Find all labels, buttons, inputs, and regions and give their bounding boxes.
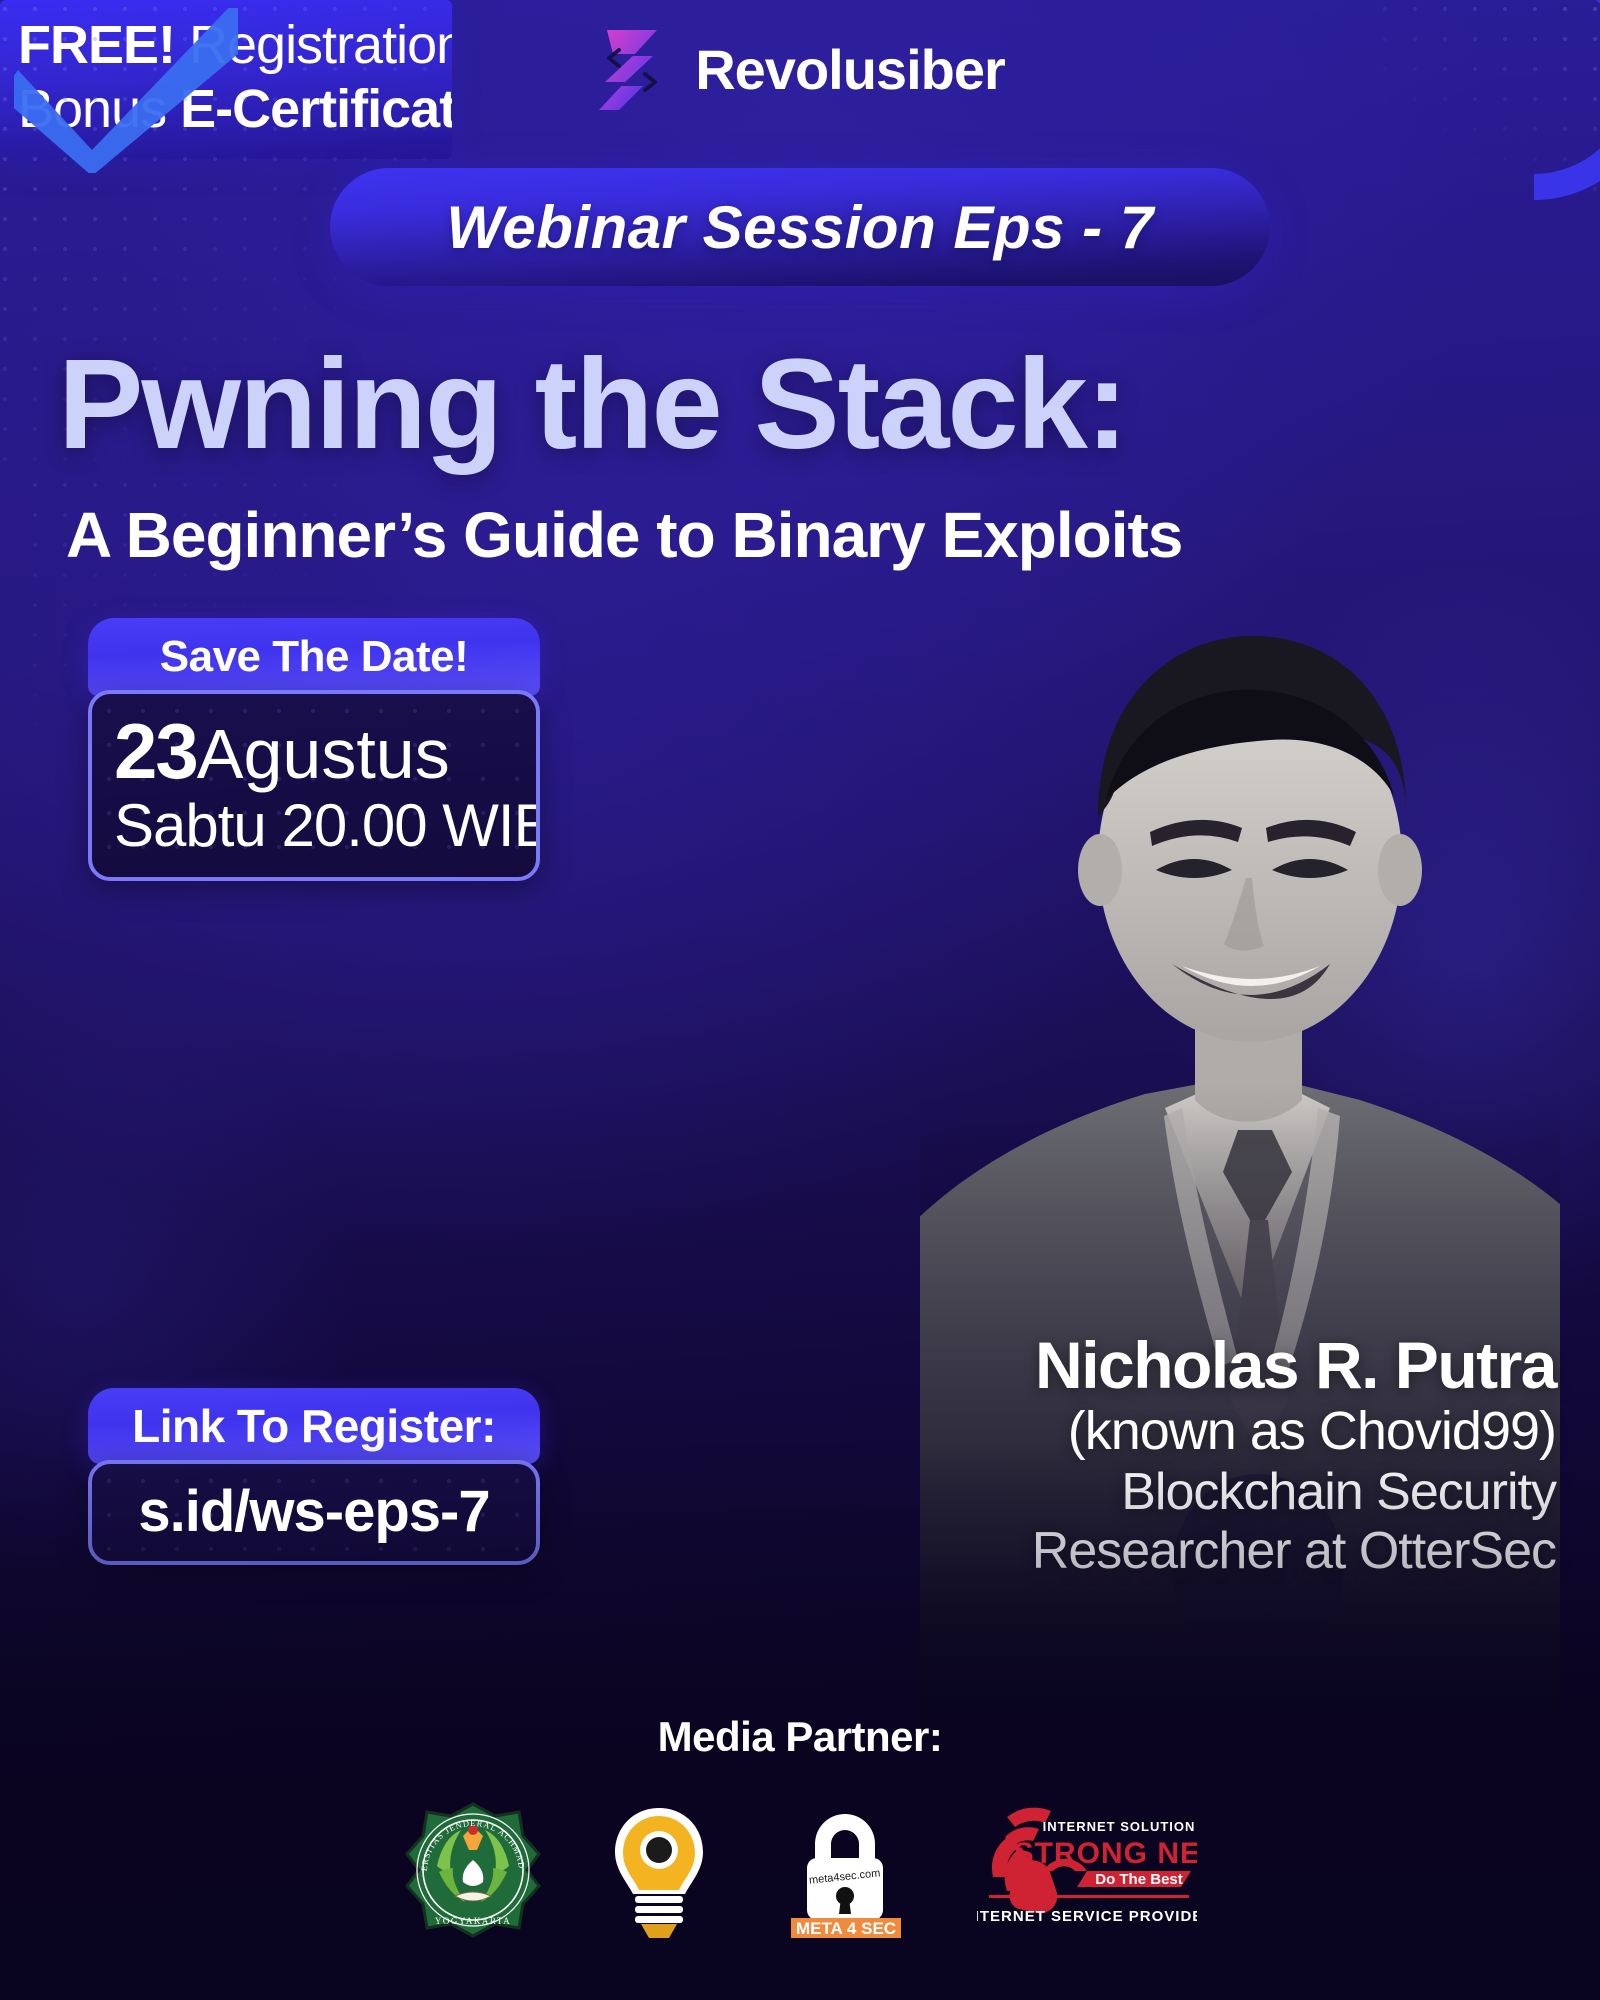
poster-root: Revolusiber Webinar Session Eps - 7 Pwni… (0, 0, 1600, 2000)
session-badge: Webinar Session Eps - 7 (330, 168, 1270, 286)
session-badge-label: Webinar Session Eps - 7 (446, 193, 1153, 262)
revolusiber-chevron-logo-icon (595, 26, 673, 114)
register-link-card[interactable]: Link To Register: s.id/ws-eps-7 (88, 1388, 540, 1565)
save-the-date-card: Save The Date! 23Agustus Sabtu 20.00 WIB (88, 618, 540, 881)
partner-logo-strongnet: INTERNET SOLUTION STRONG NET Do The Best… (977, 1805, 1197, 1935)
speaker-name: Nicholas R. Putra (836, 1330, 1556, 1401)
partner-logo-lightbulb (605, 1800, 713, 1940)
speaker-alias: (known as Chovid99) (836, 1401, 1556, 1463)
svg-text:Do The Best: Do The Best (1095, 1871, 1183, 1888)
partner-logo-meta4sec: meta4sec.com META 4 SEC (775, 1800, 915, 1940)
media-partner-logos: YOGYAKARTA UNIVERSITAS JENDERAL ACHMAD Y… (0, 1800, 1600, 1940)
padlock-icon: meta4sec.com META 4 SEC (775, 1800, 915, 1940)
brand-logo-row: Revolusiber (0, 26, 1600, 114)
register-link-body[interactable]: s.id/ws-eps-7 (88, 1460, 540, 1565)
save-the-date-header: Save The Date! (88, 618, 540, 696)
page-title: Pwning the Stack: (58, 340, 1518, 471)
svg-text:YOGYAKARTA: YOGYAKARTA (435, 1916, 511, 1926)
register-link-label: Link To Register: (132, 1399, 496, 1453)
speaker-info: Nicholas R. Putra (known as Chovid99) Bl… (836, 1330, 1556, 1581)
svg-text:INTERNET SERVICE PROVIDER: INTERNET SERVICE PROVIDER (977, 1908, 1197, 1925)
event-weekday-time: Sabtu 20.00 WIB (114, 793, 514, 859)
page-subtitle: A Beginner’s Guide to Binary Exploits (66, 500, 1366, 570)
save-the-date-body: 23Agustus Sabtu 20.00 WIB (88, 690, 540, 881)
media-partner-title: Media Partner: (0, 1713, 1600, 1761)
speaker-role-line-2: Researcher at OtterSec (836, 1522, 1556, 1581)
partner-logo-unjani: YOGYAKARTA UNIVERSITAS JENDERAL ACHMAD Y… (403, 1800, 543, 1940)
strong-net-wifi-hand-icon: INTERNET SOLUTION STRONG NET Do The Best… (977, 1805, 1197, 1935)
speaker-role-line-1: Blockchain Security (836, 1463, 1556, 1522)
unjani-university-crest-icon: YOGYAKARTA UNIVERSITAS JENDERAL ACHMAD Y… (403, 1800, 543, 1940)
brand-name: Revolusiber (695, 42, 1005, 98)
save-the-date-label: Save The Date! (160, 632, 468, 682)
lightbulb-icon (605, 1800, 713, 1940)
svg-text:META 4 SEC: META 4 SEC (796, 1919, 896, 1938)
register-url[interactable]: s.id/ws-eps-7 (112, 1478, 516, 1545)
event-month: Agustus (197, 715, 450, 793)
svg-text:STRONG NET: STRONG NET (1014, 1837, 1197, 1870)
event-day-number: 23 (114, 707, 197, 795)
register-link-header: Link To Register: (88, 1388, 540, 1464)
svg-text:INTERNET SOLUTION: INTERNET SOLUTION (1043, 1819, 1196, 1834)
event-date: 23Agustus (114, 710, 514, 793)
